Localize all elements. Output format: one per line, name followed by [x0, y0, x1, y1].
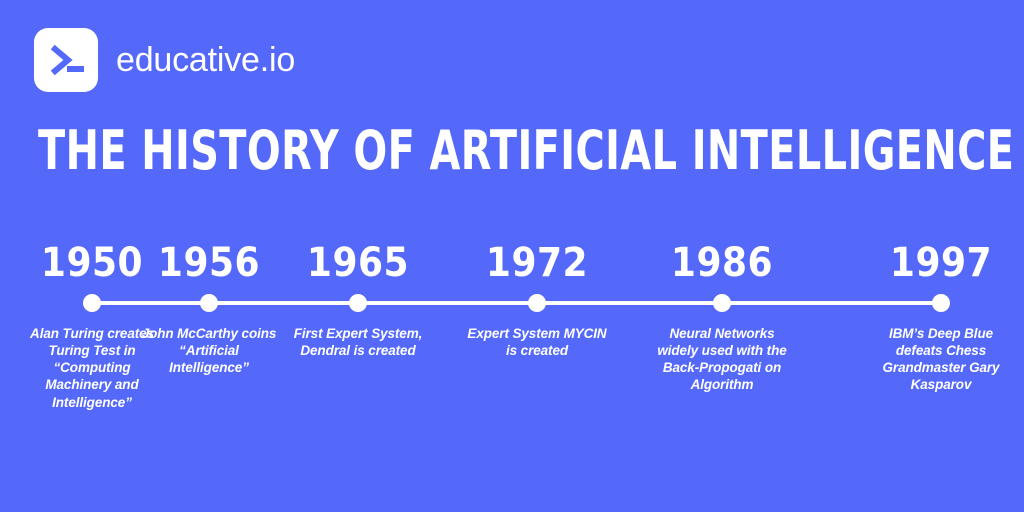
timeline-dot-icon	[83, 294, 101, 312]
timeline-dot-icon	[932, 294, 950, 312]
timeline-year: 1965	[278, 243, 438, 283]
timeline-year: 1986	[642, 243, 802, 283]
timeline-description: First Expert System, Dendral is created	[288, 325, 428, 359]
timeline-dot-icon	[349, 294, 367, 312]
timeline-description: Expert System MYCIN is created	[467, 325, 607, 359]
timeline-year: 1997	[861, 243, 1021, 283]
timeline-description: IBM’s Deep Blue defeats Chess Grandmaste…	[871, 325, 1011, 394]
timeline-description: Neural Networks widely used with the Bac…	[652, 325, 792, 394]
timeline-description: John McCarthy coins “Artificial Intellig…	[139, 325, 279, 376]
timeline-dot-icon	[200, 294, 218, 312]
timeline-dot-icon	[528, 294, 546, 312]
timeline-year: 1956	[129, 243, 289, 283]
infographic-canvas: educative.io THE HISTORY OF ARTIFICIAL I…	[0, 0, 1024, 512]
timeline-dot-icon	[713, 294, 731, 312]
timeline-axis	[92, 301, 941, 305]
timeline: 1950 Alan Turing creates Turing Test in …	[0, 0, 1024, 512]
timeline-year: 1972	[457, 243, 617, 283]
